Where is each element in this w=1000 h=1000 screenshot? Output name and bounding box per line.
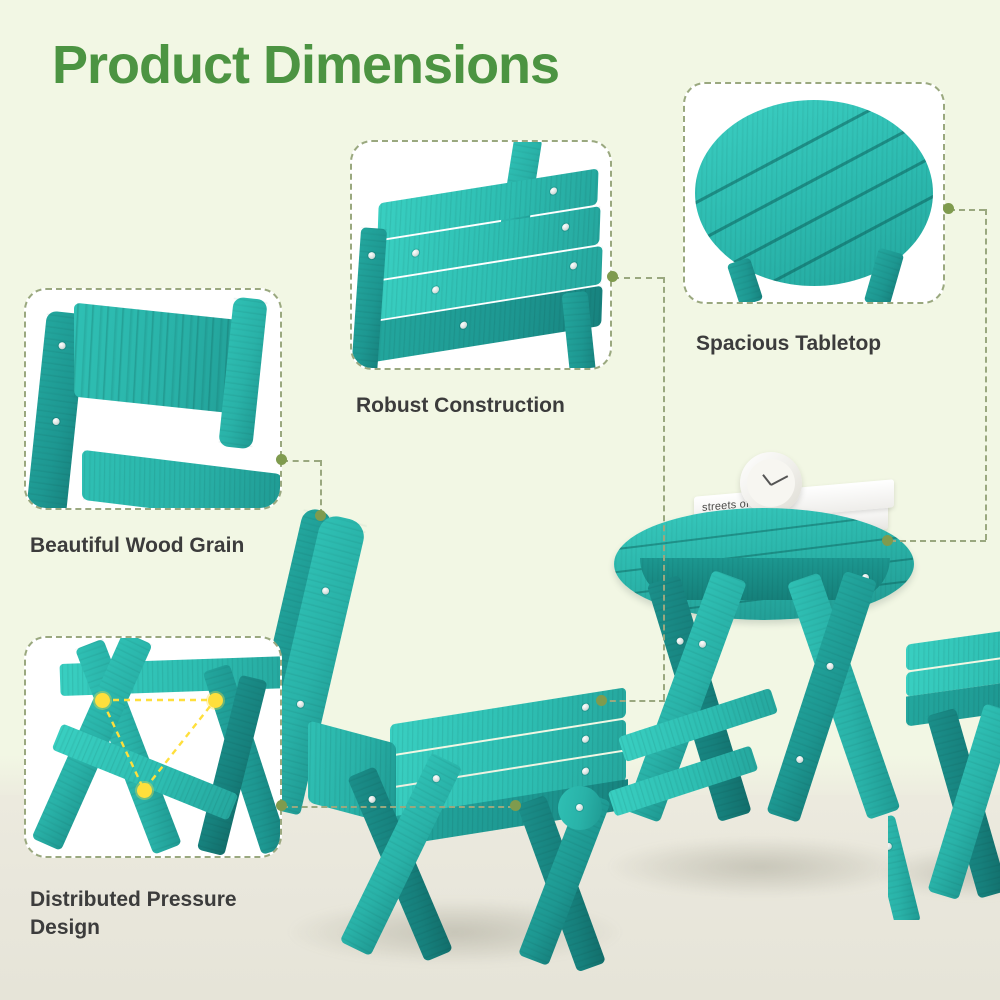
callout-distributed-pressure-design[interactable] xyxy=(24,636,282,858)
page-title: Product Dimensions xyxy=(52,36,559,95)
connector-line-tabletop-v xyxy=(985,209,987,540)
chair-pivot-hub xyxy=(558,786,602,830)
callout-label-robust-construction: Robust Construction xyxy=(356,392,656,420)
pressure-point-top-right xyxy=(208,693,223,708)
connector-dot-chair-base xyxy=(510,800,521,811)
pressure-point-top-left xyxy=(95,693,110,708)
callout-label-beautiful-wood-grain: Beautiful Wood Grain xyxy=(30,532,330,560)
connector-line-tabletop-h2 xyxy=(890,540,986,542)
connector-dot-chair-back xyxy=(315,510,326,521)
second-chair-foot xyxy=(888,814,921,920)
connector-line-robust-v xyxy=(663,277,665,700)
callout-robust-construction[interactable] xyxy=(350,140,612,370)
second-folding-chair xyxy=(888,620,1000,920)
connector-line-pressure-h xyxy=(282,806,514,808)
pressure-triangle-overlay xyxy=(26,638,282,858)
connector-dot-chair-seat xyxy=(596,695,607,706)
callout-label-spacious-tabletop: Spacious Tabletop xyxy=(696,330,996,358)
callout-label-distributed-pressure-design: Distributed Pressure Design xyxy=(30,886,330,941)
infographic-canvas: Product Dimensions xyxy=(0,0,1000,1000)
connector-dot-wood-grain-box xyxy=(276,454,287,465)
connector-line-wood-grain-h xyxy=(282,460,320,462)
connector-line-tabletop-h xyxy=(949,209,985,211)
connector-dot-tabletop-box xyxy=(943,203,954,214)
connector-dot-robust-box xyxy=(607,271,618,282)
callout-spacious-tabletop[interactable] xyxy=(683,82,945,304)
connector-line-robust-h2 xyxy=(600,700,665,702)
pressure-point-bottom xyxy=(137,783,152,798)
connector-dot-table-edge xyxy=(882,535,893,546)
folding-table: streets of new york streets of paris xyxy=(600,450,930,870)
connector-line-wood-grain-v xyxy=(320,460,322,515)
wood-grain-seat-edge xyxy=(82,450,282,510)
connector-line-robust-h xyxy=(613,277,663,279)
desk-clock xyxy=(740,452,802,514)
callout-beautiful-wood-grain[interactable] xyxy=(24,288,282,510)
